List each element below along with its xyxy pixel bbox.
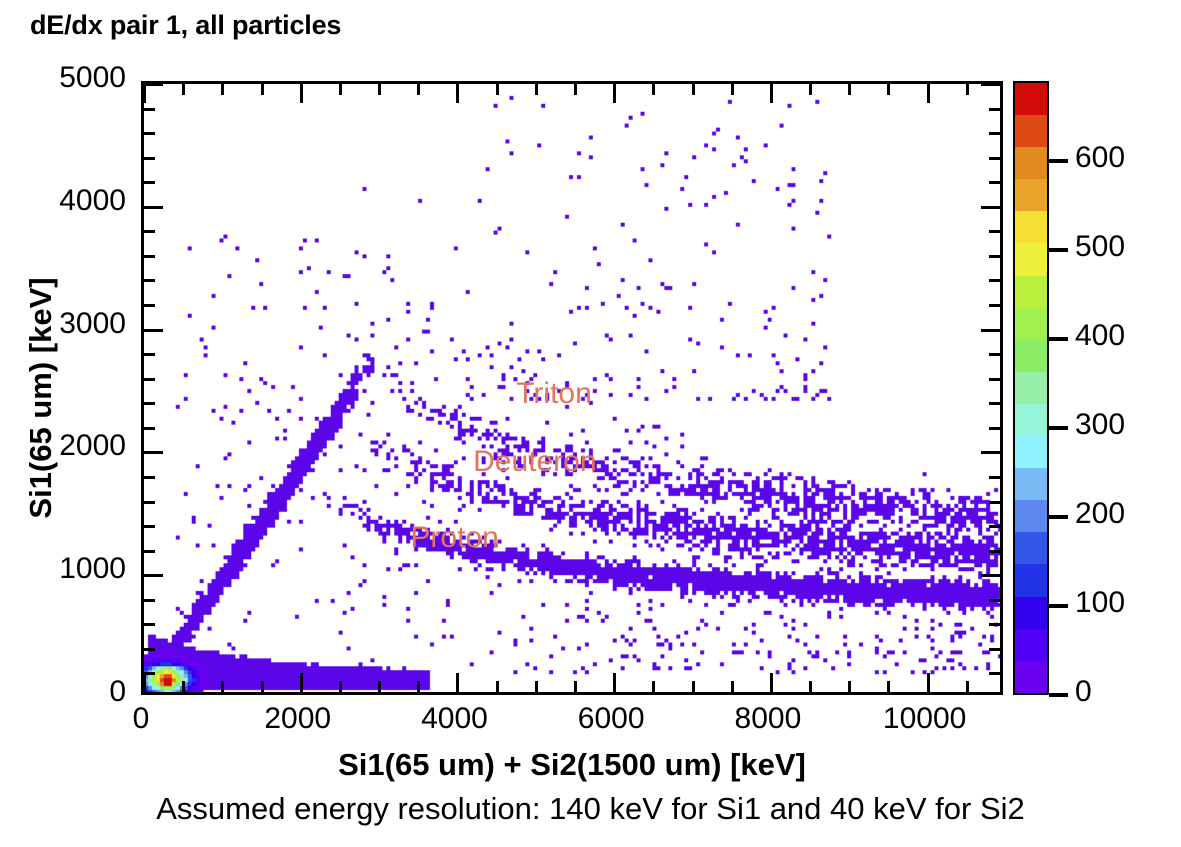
- axis-tick: [989, 599, 1000, 602]
- axis-tick: [989, 279, 1000, 282]
- colorbar-tick-label: 0: [1075, 675, 1092, 709]
- axis-tick: [143, 84, 146, 103]
- y-tick-label: 2000: [59, 429, 126, 463]
- axis-tick: [144, 255, 155, 258]
- axis-tick: [989, 181, 1000, 184]
- axis-tick: [144, 550, 155, 553]
- axis-tick: [456, 673, 459, 692]
- axis-tick: [496, 681, 499, 692]
- axis-tick: [456, 84, 459, 103]
- colorbar-band: [1015, 340, 1047, 372]
- axis-tick: [966, 681, 969, 692]
- axis-tick: [144, 476, 155, 479]
- plot-area: TritonDeuteronProton: [141, 81, 1003, 695]
- colorbar-tick-label: 100: [1075, 586, 1125, 620]
- axis-tick: [887, 681, 890, 692]
- axis-tick: [989, 108, 1000, 111]
- plot-canvas: dE/dx pair 1, all particles TritonDeuter…: [0, 0, 1181, 847]
- y-tick-label: 3000: [59, 307, 126, 341]
- axis-tick: [300, 84, 303, 103]
- axis-tick: [144, 402, 155, 405]
- axis-tick: [144, 623, 155, 626]
- axis-tick: [417, 681, 420, 692]
- colorbar-tick-label: 500: [1075, 230, 1125, 264]
- axis-tick: [989, 230, 1000, 233]
- x-tick-label: 0: [133, 702, 150, 736]
- page-title: dE/dx pair 1, all particles: [30, 10, 341, 41]
- axis-tick: [848, 84, 851, 95]
- axis-tick: [652, 84, 655, 95]
- axis-tick: [144, 304, 155, 307]
- axis-tick: [692, 84, 695, 95]
- axis-tick: [144, 108, 155, 111]
- axis-tick: [144, 83, 163, 86]
- colorbar-band: [1015, 468, 1047, 500]
- colorbar-band: [1015, 115, 1047, 147]
- axis-tick: [182, 84, 185, 95]
- colorbar-band: [1015, 83, 1047, 115]
- axis-tick: [989, 501, 1000, 504]
- axis-tick: [144, 451, 163, 454]
- y-tick-label: 4000: [59, 184, 126, 218]
- axis-tick: [221, 84, 224, 95]
- axis-tick: [339, 681, 342, 692]
- colorbar-tick: [1049, 159, 1068, 163]
- colorbar-band: [1015, 404, 1047, 436]
- axis-tick: [574, 681, 577, 692]
- colorbar-band: [1015, 629, 1047, 661]
- axis-tick: [989, 525, 1000, 528]
- axis-tick: [981, 83, 1000, 86]
- colorbar-band: [1015, 661, 1047, 693]
- colorbar-band: [1015, 372, 1047, 404]
- colorbar-band: [1015, 308, 1047, 340]
- axis-tick: [144, 427, 155, 430]
- y-tick-label: 0: [109, 675, 126, 709]
- colorbar-tick: [1049, 604, 1068, 608]
- axis-tick: [144, 574, 163, 577]
- colorbar-band: [1015, 147, 1047, 179]
- colorbar-tick: [1049, 426, 1068, 430]
- scatter-data-layer: [144, 84, 1000, 692]
- colorbar-tick: [1049, 515, 1068, 519]
- axis-tick: [144, 501, 155, 504]
- axis-tick: [989, 157, 1000, 160]
- colorbar-band: [1015, 436, 1047, 468]
- y-axis-title: Si1(65 um) [keV]: [23, 118, 59, 678]
- colorbar-tick-label: 200: [1075, 497, 1125, 531]
- axis-tick: [496, 84, 499, 95]
- axis-tick: [339, 84, 342, 95]
- axis-tick: [989, 353, 1000, 356]
- axis-tick: [989, 648, 1000, 651]
- colorbar-band: [1015, 564, 1047, 596]
- axis-tick: [144, 525, 155, 528]
- axis-tick: [887, 84, 890, 95]
- axis-tick: [989, 378, 1000, 381]
- x-tick-label: 2000: [264, 702, 331, 736]
- x-tick-label: 4000: [421, 702, 488, 736]
- axis-tick: [574, 84, 577, 95]
- x-tick-label: 6000: [578, 702, 645, 736]
- axis-tick: [613, 673, 616, 692]
- axis-tick: [981, 206, 1000, 209]
- colorbar-band: [1015, 532, 1047, 564]
- axis-tick: [144, 181, 155, 184]
- figure-caption: Assumed energy resolution: 140 keV for S…: [0, 791, 1181, 827]
- axis-tick: [981, 451, 1000, 454]
- colorbar-tick: [1049, 337, 1068, 341]
- axis-tick: [927, 673, 930, 692]
- axis-tick: [535, 84, 538, 95]
- colorbar-gradient: [1013, 81, 1049, 695]
- axis-tick: [144, 157, 155, 160]
- axis-tick: [989, 476, 1000, 479]
- colorbar-tick: [1049, 248, 1068, 252]
- colorbar-band: [1015, 243, 1047, 275]
- axis-tick: [989, 255, 1000, 258]
- x-axis-title: Si1(65 um) + Si2(1500 um) [keV]: [141, 747, 1003, 783]
- colorbar-band: [1015, 597, 1047, 629]
- axis-tick: [144, 353, 155, 356]
- colorbar-band: [1015, 211, 1047, 243]
- axis-tick: [144, 378, 155, 381]
- axis-tick: [417, 84, 420, 95]
- axis-tick: [613, 84, 616, 103]
- axis-tick: [692, 681, 695, 692]
- axis-tick: [731, 681, 734, 692]
- axis-tick: [770, 84, 773, 103]
- axis-tick: [731, 84, 734, 95]
- axis-tick: [144, 230, 155, 233]
- colorbar-axis: 0100200300400500600: [1049, 81, 1181, 695]
- axis-tick: [261, 681, 264, 692]
- axis-tick: [535, 681, 538, 692]
- axis-tick: [966, 84, 969, 95]
- axis-tick: [989, 623, 1000, 626]
- axis-tick: [300, 673, 303, 692]
- axis-tick: [144, 206, 163, 209]
- colorbar-tick-label: 600: [1075, 141, 1125, 175]
- y-tick-label: 5000: [59, 61, 126, 95]
- axis-tick: [652, 681, 655, 692]
- colorbar-tick-label: 400: [1075, 319, 1125, 353]
- axis-tick: [989, 550, 1000, 553]
- axis-tick: [770, 673, 773, 692]
- colorbar-band: [1015, 276, 1047, 308]
- axis-tick: [809, 681, 812, 692]
- axis-tick: [981, 329, 1000, 332]
- axis-tick: [144, 599, 155, 602]
- axis-tick: [378, 681, 381, 692]
- axis-tick: [989, 402, 1000, 405]
- axis-tick: [221, 681, 224, 692]
- axis-tick: [144, 279, 155, 282]
- colorbar-band: [1015, 179, 1047, 211]
- axis-tick: [261, 84, 264, 95]
- colorbar-tick: [1049, 693, 1068, 697]
- axis-tick: [144, 648, 155, 651]
- y-tick-label: 1000: [59, 552, 126, 586]
- x-tick-label: 10000: [883, 702, 966, 736]
- colorbar-band: [1015, 500, 1047, 532]
- axis-tick: [378, 84, 381, 95]
- colorbar-tick-label: 300: [1075, 408, 1125, 442]
- axis-tick: [989, 427, 1000, 430]
- axis-tick: [144, 329, 163, 332]
- axis-tick: [927, 84, 930, 103]
- axis-tick: [144, 132, 155, 135]
- axis-tick: [981, 574, 1000, 577]
- axis-tick: [989, 672, 1000, 675]
- axis-tick: [182, 681, 185, 692]
- axis-tick: [809, 84, 812, 95]
- axis-tick: [989, 304, 1000, 307]
- x-tick-label: 8000: [735, 702, 802, 736]
- axis-tick: [143, 673, 146, 692]
- axis-tick: [848, 681, 851, 692]
- axis-tick: [989, 132, 1000, 135]
